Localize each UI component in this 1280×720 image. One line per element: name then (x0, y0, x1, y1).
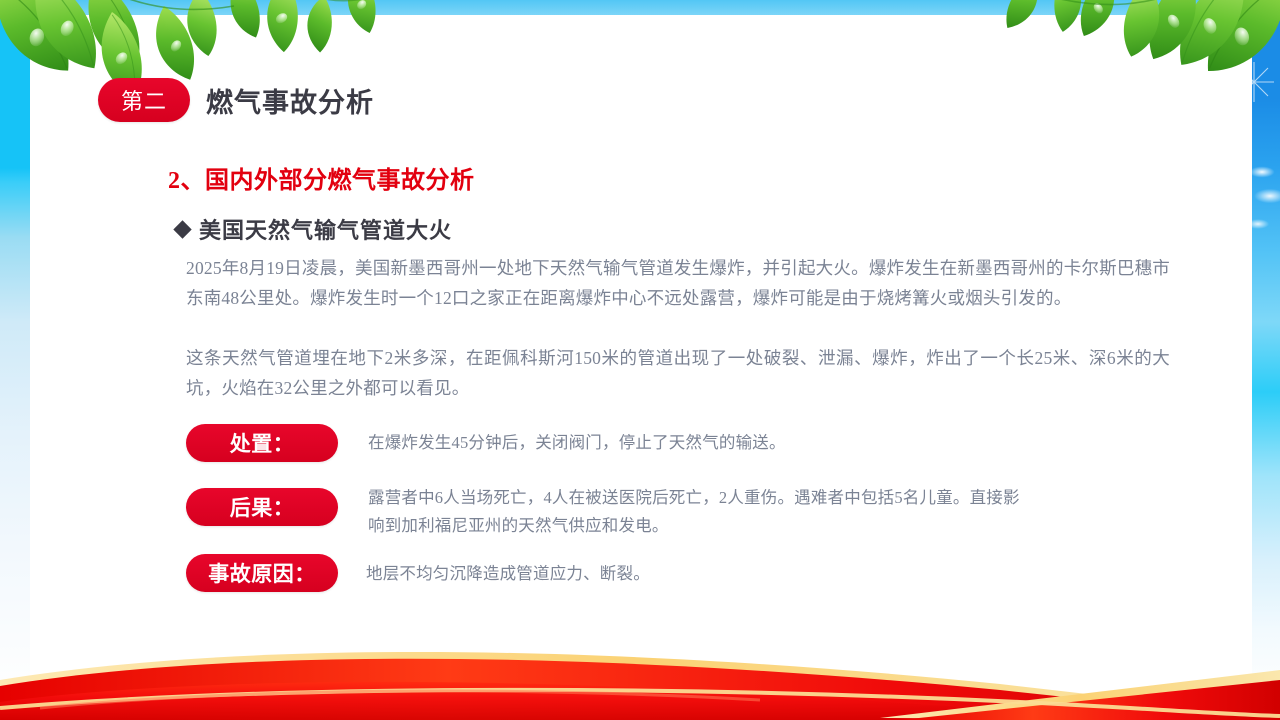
sparkle-icon (1232, 60, 1276, 104)
section-number-badge: 第二 (98, 78, 190, 122)
leaf-cluster-icon (990, 0, 1280, 110)
case-row-cause: 事故原因： 地层不均匀沉降造成管道应力、断裂。 (186, 554, 1086, 592)
right-sky-strip (1252, 0, 1280, 700)
disposal-badge: 处置： (186, 424, 338, 462)
case-title-label: 美国天然气输气管道大火 (199, 213, 452, 245)
consequence-text: 露营者中6人当场死亡，4人在被送医院后死亡，2人重伤。遇难者中包括5名儿童。直接… (368, 484, 1030, 540)
left-sky-strip (0, 0, 30, 700)
section-heading: 第二 燃气事故分析 (98, 78, 374, 122)
consequence-badge: 后果： (186, 488, 338, 526)
slide: 第二 燃气事故分析 2、国内外部分燃气事故分析 美国天然气输气管道大火 2025… (0, 0, 1280, 720)
case-title: 美国天然气输气管道大火 (176, 213, 452, 245)
subsection-title: 2、国内外部分燃气事故分析 (168, 160, 475, 195)
cause-badge: 事故原因： (186, 554, 338, 592)
top-sky-band (0, 0, 1280, 46)
case-row-consequence: 后果： 露营者中6人当场死亡，4人在被送医院后死亡，2人重伤。遇难者中包括5名儿… (186, 488, 1030, 540)
case-paragraph-2: 这条天然气管道埋在地下2米多深，在距佩科斯河150米的管道出现了一处破裂、泄漏、… (186, 343, 1170, 403)
case-row-disposal: 处置： 在爆炸发生45分钟后，关闭阀门，停止了天然气的输送。 (186, 424, 1088, 462)
disposal-text: 在爆炸发生45分钟后，关闭阀门，停止了天然气的输送。 (368, 429, 1088, 457)
page-title: 燃气事故分析 (206, 81, 374, 120)
ribbon-icon (0, 630, 1280, 720)
diamond-bullet-icon (173, 220, 191, 238)
cause-text: 地层不均匀沉降造成管道应力、断裂。 (366, 560, 1086, 588)
case-paragraph-1: 2025年8月19日凌晨，美国新墨西哥州一处地下天然气输气管道发生爆炸，并引起大… (186, 253, 1170, 313)
